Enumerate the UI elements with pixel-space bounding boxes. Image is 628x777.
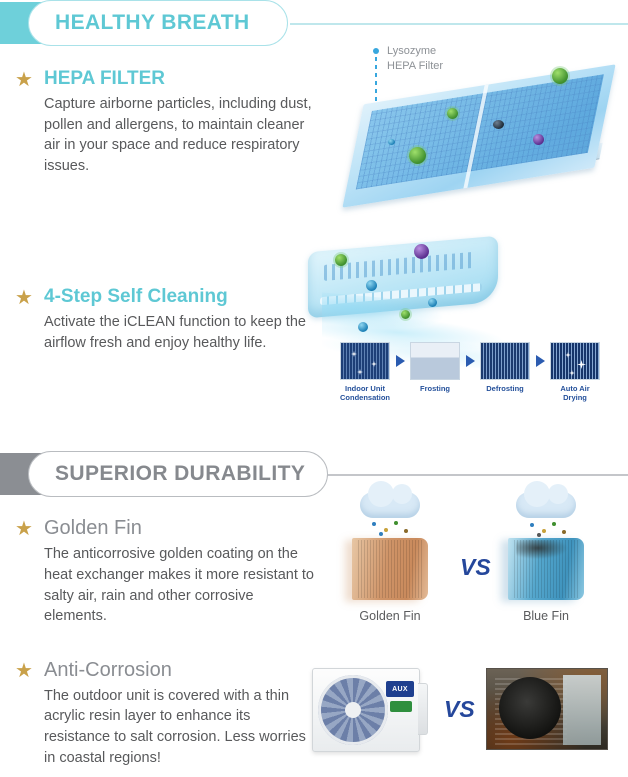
banner-pill: HEALTHY BREATH: [28, 0, 288, 46]
germ-particle: [428, 298, 437, 307]
feature-body: Capture airborne particles, including du…: [44, 94, 320, 176]
eco-badge-icon: [390, 701, 412, 712]
rusted-fan-icon: [499, 677, 561, 739]
ac-vent: [324, 252, 474, 281]
germ-particle: [414, 244, 429, 259]
fin-caption: Golden Fin: [330, 609, 450, 623]
feature-sheet: HEALTHY BREATH ★ HEPA FILTER Capture air…: [0, 0, 628, 777]
callout-label: Lysozyme HEPA Filter: [387, 44, 443, 74]
cloud-icon: [516, 492, 576, 518]
feature-title: Golden Fin: [44, 517, 320, 540]
fin-comparison-illustration: Golden Fin VS Blue Fin: [316, 492, 628, 638]
self-cleaning-illustration: Indoor Unit Condensation Frosting Defros…: [300, 236, 620, 411]
step-label: Frosting: [408, 384, 462, 393]
callout-line-2: HEPA Filter: [387, 59, 443, 74]
feature-title: Anti-Corrosion: [44, 659, 320, 682]
callout-line-1: Lysozyme: [387, 44, 443, 59]
rusted-side-panel: [563, 675, 601, 745]
cloud-icon: [360, 492, 420, 518]
star-icon: ★: [14, 519, 34, 539]
outdoor-unit-comparison-illustration: AUX VS: [306, 660, 628, 772]
feature-title: HEPA FILTER: [44, 68, 320, 90]
germ-particle: [552, 68, 568, 84]
corroded-outdoor-unit: [486, 668, 608, 750]
step-arrow-icon: [462, 342, 478, 380]
vs-label: VS: [444, 696, 475, 723]
star-icon: ★: [14, 288, 34, 308]
banner-rule: [284, 474, 628, 476]
germ-particle: [533, 134, 544, 145]
germ-particle: [358, 322, 368, 332]
falling-particles: [362, 520, 418, 536]
step-thumbnail: [550, 342, 600, 380]
step-thumbnail: [410, 342, 460, 380]
feature-body: The anticorrosive golden coating on the …: [44, 544, 320, 626]
section-title: HEALTHY BREATH: [55, 11, 250, 35]
banner-rule: [290, 23, 628, 25]
golden-fin-column: Golden Fin: [330, 492, 450, 623]
falling-particles: [518, 520, 574, 536]
cleaning-steps: Indoor Unit Condensation Frosting Defros…: [338, 342, 616, 403]
step-arrow-icon: [532, 342, 548, 380]
callout-dot-icon: [373, 48, 379, 54]
feature-text-block: Anti-Corrosion The outdoor unit is cover…: [44, 659, 320, 768]
unit-side-panel: [418, 683, 428, 735]
germ-particle: [493, 120, 504, 129]
feature-body: Activate the iCLEAN function to keep the…: [44, 312, 320, 353]
hepa-filter-illustration: Lysozyme HEPA Filter: [345, 44, 615, 199]
feature-body: The outdoor unit is covered with a thin …: [44, 686, 320, 768]
filter-mesh-panel: [342, 64, 615, 207]
fin-caption: Blue Fin: [486, 609, 606, 623]
germ-particle: [409, 147, 426, 164]
germ-particle: [447, 108, 458, 119]
banner-pill: SUPERIOR DURABILITY: [28, 451, 328, 497]
blue-fin-column: Blue Fin: [486, 492, 606, 623]
fan-grille-icon: [318, 675, 388, 745]
step-thumbnail: [340, 342, 390, 380]
step-item: Auto Air Drying: [548, 342, 602, 403]
section-title: SUPERIOR DURABILITY: [55, 462, 305, 486]
feature-text-block: HEPA FILTER Capture airborne particles, …: [44, 68, 320, 176]
step-label: Indoor Unit Condensation: [338, 384, 392, 403]
germ-particle: [388, 139, 395, 145]
star-icon: ★: [14, 661, 34, 681]
callout-dashed-line: [375, 57, 377, 105]
step-item: Defrosting: [478, 342, 532, 393]
step-arrow-icon: [392, 342, 408, 380]
step-thumbnail: [480, 342, 530, 380]
golden-fin-block: [352, 538, 428, 600]
step-label: Defrosting: [478, 384, 532, 393]
star-icon: ★: [14, 70, 34, 90]
germ-particle: [366, 280, 377, 291]
feature-title: 4-Step Self Cleaning: [44, 286, 320, 308]
feature-text-block: 4-Step Self Cleaning Activate the iCLEAN…: [44, 286, 320, 353]
new-outdoor-unit: AUX: [312, 668, 420, 752]
step-item: Indoor Unit Condensation: [338, 342, 392, 403]
aux-brand-logo: AUX: [386, 681, 414, 697]
blue-fin-block: [508, 538, 584, 600]
step-label: Auto Air Drying: [548, 384, 602, 403]
germ-particle: [335, 254, 347, 266]
step-item: Frosting: [408, 342, 462, 393]
section-banner-healthy-breath: HEALTHY BREATH: [0, 0, 628, 46]
germ-particle: [401, 310, 410, 319]
feature-text-block: Golden Fin The anticorrosive golden coat…: [44, 517, 320, 626]
